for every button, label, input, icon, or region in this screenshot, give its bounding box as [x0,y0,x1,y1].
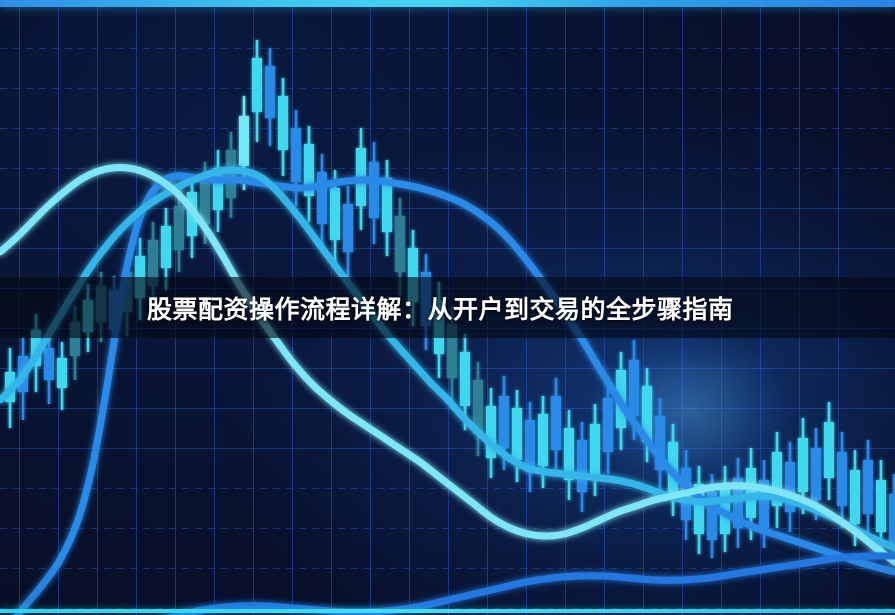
page-title: 股票配资操作流程详解：从开户到交易的全步骤指南 [0,277,895,338]
candlestick [655,398,665,492]
ma-line-ma-bottom-blue [0,556,895,615]
candlestick [733,458,743,548]
candlestick [564,410,574,500]
candlestick [239,96,249,190]
candlestick [785,442,795,532]
candlestick [291,110,301,206]
candlestick [577,422,587,512]
candlestick [590,404,600,496]
candlestick [486,388,496,478]
candlestick [317,154,327,248]
candlestick [863,440,873,536]
candlestick [824,402,834,500]
candlestick [694,466,704,554]
candlestick [772,432,782,528]
candlestick [213,150,223,232]
candlestick [837,432,847,528]
candlestick [226,132,236,218]
candlestick [551,378,561,472]
stock-chart-banner: 股票配资操作流程详解：从开户到交易的全步骤指南 [0,0,895,615]
candlestick [473,362,483,456]
candlestick [525,402,535,492]
top-accent-bar [0,0,895,7]
candlestick [278,78,288,176]
candlestick [369,142,379,244]
candlestick [265,48,275,146]
candlestick [252,40,262,142]
candlestick [343,186,353,278]
moving-average-layer [0,168,895,615]
candlestick [382,160,392,256]
bottom-accent-bar [0,609,895,613]
candlestick [57,342,67,410]
candlestick [304,126,314,222]
